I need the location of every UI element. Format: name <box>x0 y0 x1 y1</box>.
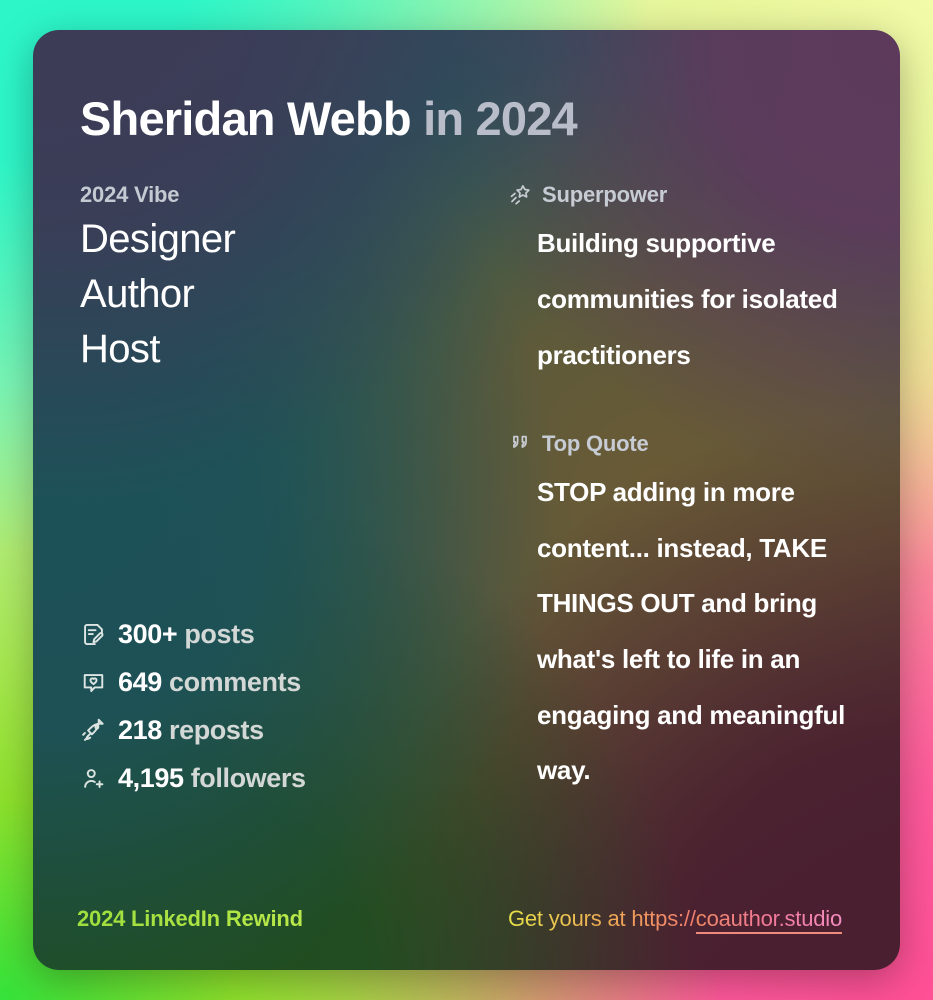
card-footer: 2024 LinkedIn Rewind Get yours at https:… <box>77 906 856 932</box>
stat-unit: comments <box>169 667 301 697</box>
vibe-line: Designer <box>80 212 477 267</box>
stat-value: 300+ <box>118 619 177 649</box>
quote-block: Top Quote STOP adding in more content...… <box>507 431 856 799</box>
cta-link[interactable]: Get yours at https://coauthor.studio <box>508 906 842 932</box>
quote-text: STOP adding in more content... instead, … <box>507 465 856 799</box>
user-plus-icon <box>80 765 107 792</box>
stat-text: 649 comments <box>118 667 301 698</box>
card-body: 2024 Vibe Designer Author Host <box>77 182 856 847</box>
stat-followers: 4,195 followers <box>80 763 480 794</box>
note-edit-icon <box>80 621 107 648</box>
stats-list: 300+ posts 649 comments <box>80 619 480 794</box>
stat-value: 218 <box>118 715 162 745</box>
title-year-suffix: in 2024 <box>423 92 577 145</box>
stat-unit: reposts <box>169 715 264 745</box>
stat-value: 4,195 <box>118 763 184 793</box>
vibe-line: Author <box>80 267 477 322</box>
superpower-text: Building supportive communities for isol… <box>507 216 856 383</box>
vibe-list: Designer Author Host <box>80 212 477 376</box>
cta-text: Get yours at https:// <box>508 906 696 931</box>
quote-label: Top Quote <box>542 431 649 457</box>
stat-unit: posts <box>184 619 254 649</box>
vibe-section-label: 2024 Vibe <box>80 182 477 208</box>
rocket-icon <box>80 717 107 744</box>
rewind-card: Sheridan Webb in 2024 2024 Vibe Designer… <box>33 30 900 970</box>
quote-section-label: Top Quote <box>507 431 856 457</box>
stat-text: 300+ posts <box>118 619 254 650</box>
gradient-frame: Sheridan Webb in 2024 2024 Vibe Designer… <box>0 0 933 1000</box>
superpower-block: Superpower Building supportive communiti… <box>507 182 856 383</box>
superpower-section-label: Superpower <box>507 182 856 208</box>
page-title: Sheridan Webb in 2024 <box>80 94 856 143</box>
card-content: Sheridan Webb in 2024 2024 Vibe Designer… <box>33 30 900 970</box>
comment-heart-icon <box>80 669 107 696</box>
stat-posts: 300+ posts <box>80 619 480 650</box>
stat-comments: 649 comments <box>80 667 480 698</box>
quote-marks-icon <box>507 431 533 457</box>
stat-value: 649 <box>118 667 162 697</box>
cta-url[interactable]: coauthor.studio <box>696 906 842 934</box>
stat-reposts: 218 reposts <box>80 715 480 746</box>
rewind-brand-label: 2024 LinkedIn Rewind <box>77 906 303 932</box>
superpower-label: Superpower <box>542 182 667 208</box>
right-column: Superpower Building supportive communiti… <box>477 182 856 847</box>
stat-text: 4,195 followers <box>118 763 306 794</box>
stat-unit: followers <box>191 763 306 793</box>
shooting-star-icon <box>507 182 533 208</box>
vibe-line: Host <box>80 322 477 377</box>
left-column: 2024 Vibe Designer Author Host <box>77 182 477 847</box>
profile-name: Sheridan Webb <box>80 92 411 145</box>
stat-text: 218 reposts <box>118 715 264 746</box>
